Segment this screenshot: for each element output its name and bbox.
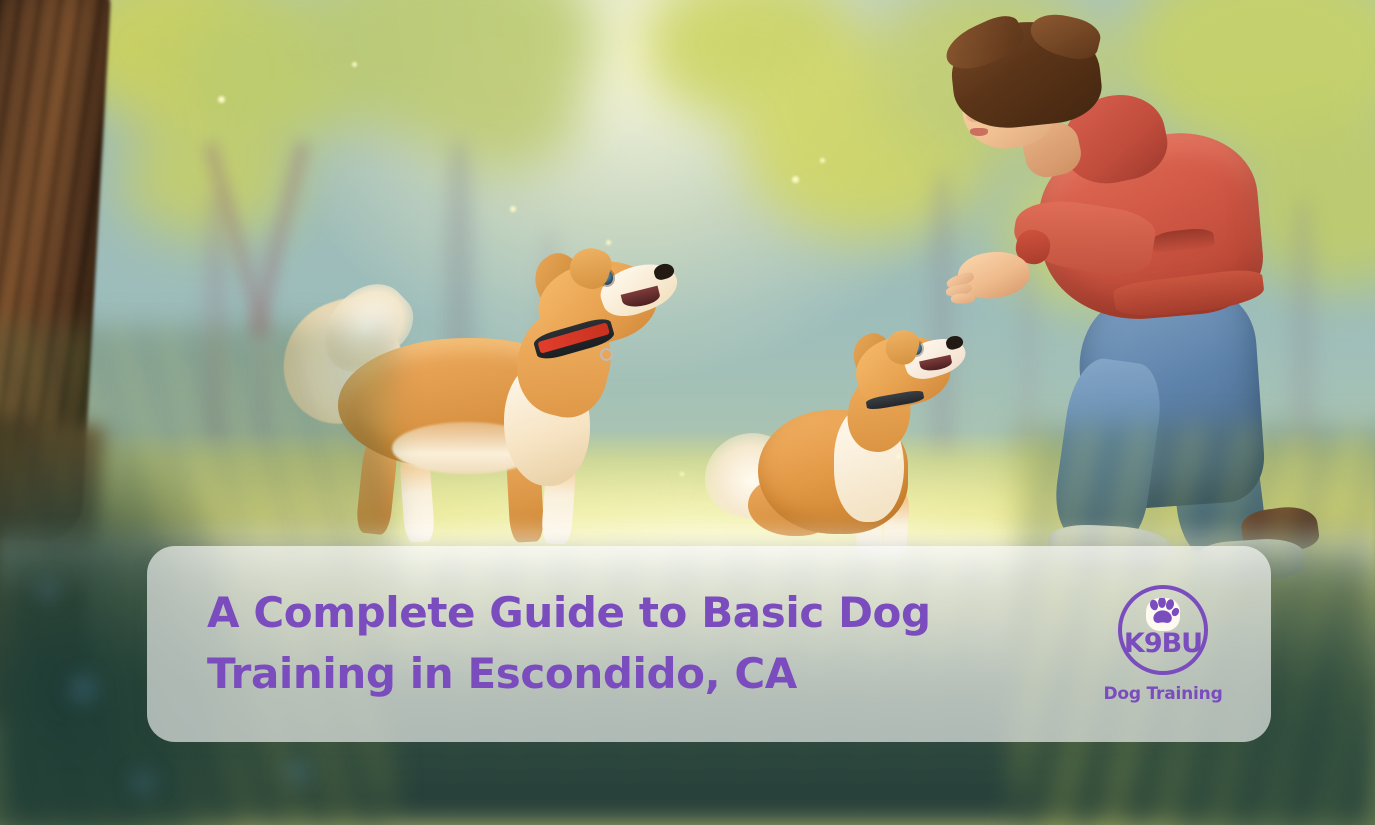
pollen-mote <box>510 206 516 212</box>
pollen-mote <box>792 176 799 183</box>
logo-circle: K9BU <box>1118 585 1208 675</box>
bokeh-dot <box>70 676 96 702</box>
bokeh-dot <box>132 772 154 794</box>
boy-finger <box>951 293 975 304</box>
pollen-mote <box>218 96 225 103</box>
title-overlay-card: A Complete Guide to Basic Dog Training i… <box>147 546 1271 742</box>
pollen-mote <box>606 240 611 245</box>
pollen-mote <box>680 472 684 476</box>
logo-tagline: Dog Training <box>1103 684 1222 704</box>
pollen-mote <box>352 62 357 67</box>
logo-mark: K9BU <box>1124 628 1202 659</box>
bokeh-dot <box>38 580 58 600</box>
banner-image: A Complete Guide to Basic Dog Training i… <box>0 0 1375 825</box>
paw-print-icon <box>1146 598 1180 631</box>
bokeh-dot <box>286 760 310 784</box>
pollen-mote <box>896 454 901 459</box>
boy-mouth <box>970 128 988 136</box>
brand-logo[interactable]: K9BU Dog Training <box>1081 585 1271 704</box>
pollen-mote <box>820 158 825 163</box>
page-title: A Complete Guide to Basic Dog Training i… <box>147 583 1081 705</box>
dog-collar-tag-ring <box>600 348 613 361</box>
